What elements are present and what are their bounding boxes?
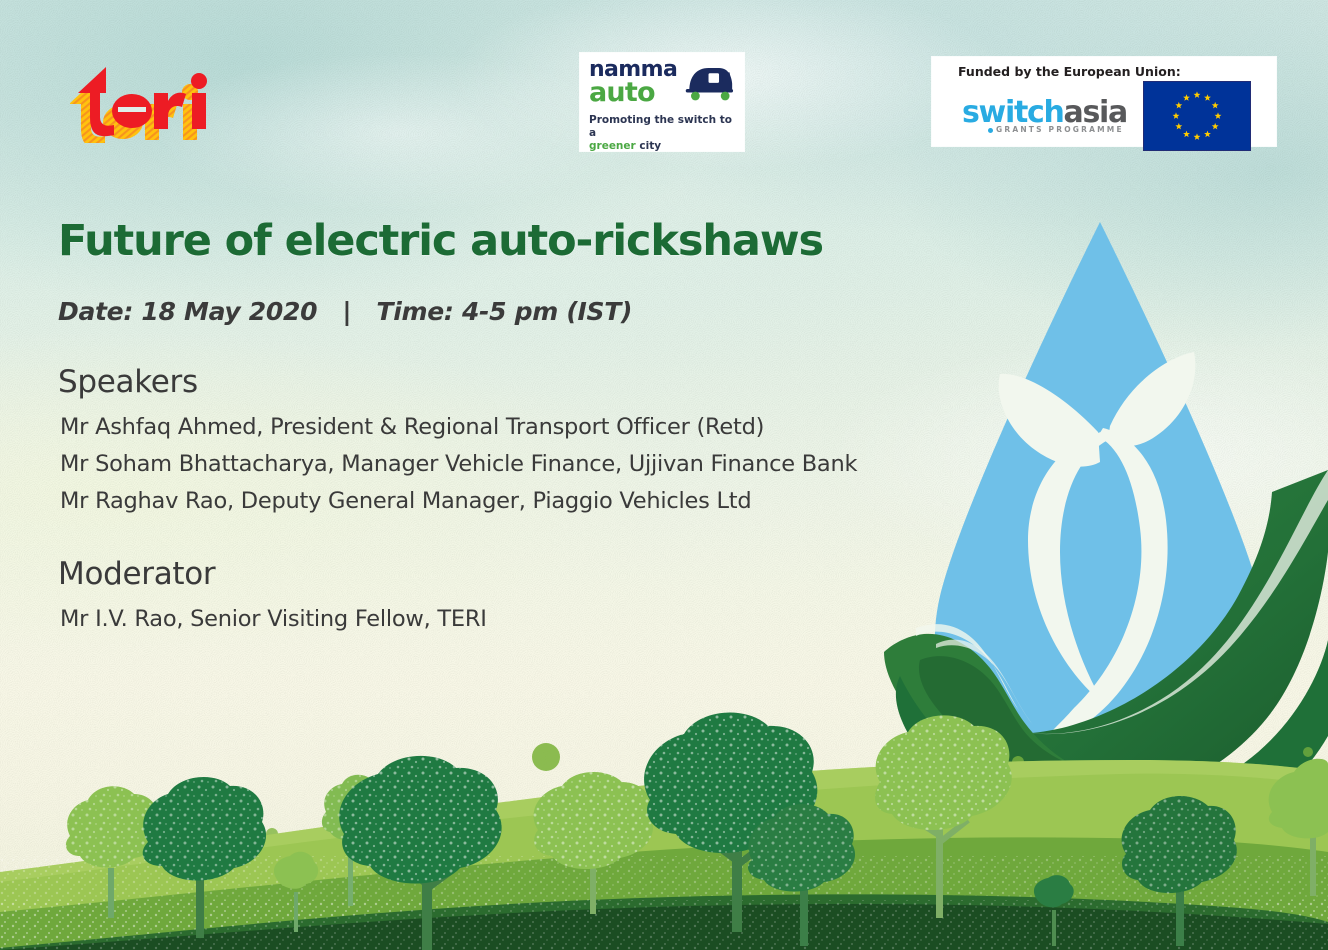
namma-auto-logo: namma auto Promoting the switch to a gre… <box>580 53 744 151</box>
namma-auto-tagline: Promoting the switch to a greener city <box>589 114 735 153</box>
eu-funding-caption: Funded by the European Union: <box>958 64 1266 79</box>
webinar-poster: Future of electric auto-rickshaws Date: … <box>0 0 1328 950</box>
auto-word: auto <box>589 81 677 106</box>
eu-flag-icon <box>1143 81 1251 151</box>
switchasia-subtitle: GRANTS PROGRAMME <box>996 126 1124 134</box>
european-union-funding-logo: Funded by the European Union: switchasia… <box>932 57 1276 146</box>
tagline-line-2-rest: city <box>636 140 661 152</box>
switchasia-dot-icon <box>988 128 993 133</box>
tagline-greener-word: greener <box>589 140 636 152</box>
logo-bar: namma auto Promoting the switch to a gre… <box>0 0 1328 950</box>
tagline-line-1: Promoting the switch to a <box>589 114 732 139</box>
auto-rickshaw-icon <box>684 60 735 104</box>
teri-logo <box>70 63 220 143</box>
switchasia-logo: switchasia GRANTS PROGRAMME <box>962 98 1127 134</box>
